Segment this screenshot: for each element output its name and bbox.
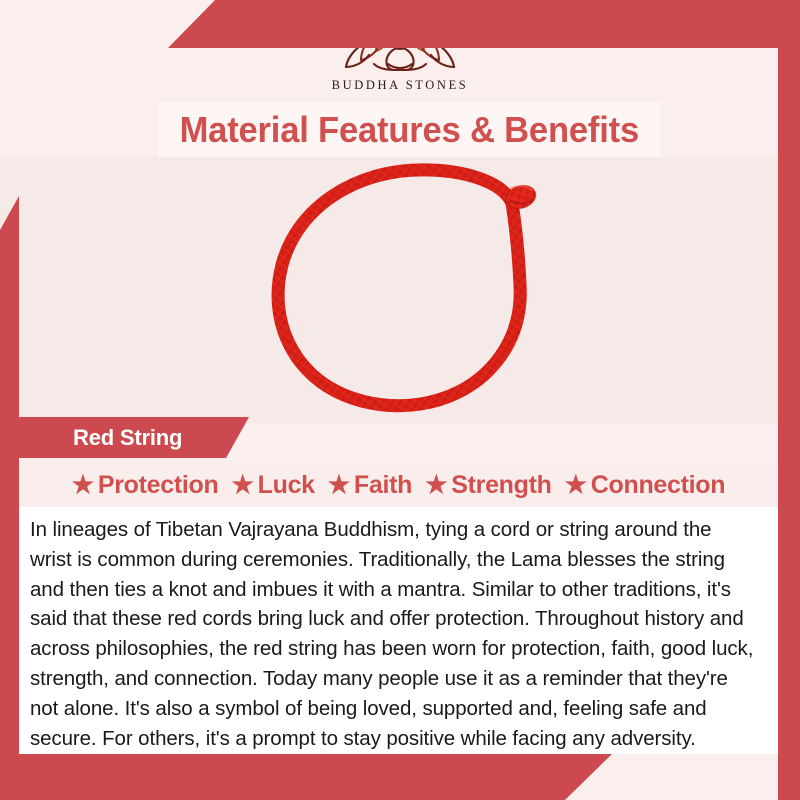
feature-item-luck: ★ Luck [232, 471, 315, 500]
feature-label: Strength [451, 471, 551, 500]
description-block: In lineages of Tibetan Vajrayana Buddhis… [19, 507, 778, 754]
feature-item-connection: ★ Connection [565, 471, 726, 500]
red-string-bracelet-image [240, 157, 570, 423]
bracelet-cord-loop [278, 170, 520, 406]
description-text: In lineages of Tibetan Vajrayana Buddhis… [30, 515, 756, 753]
decor-right-border [778, 0, 800, 800]
decor-left-border [0, 196, 19, 800]
feature-label: Connection [591, 471, 726, 500]
star-icon: ★ [565, 473, 587, 498]
brand-name: BUDDHA STONES [332, 78, 469, 93]
star-icon: ★ [72, 473, 94, 498]
features-list: ★ Protection ★ Luck ★ Faith ★ Strength ★… [19, 463, 778, 507]
material-banner-row: Red String [0, 417, 800, 463]
feature-label: Protection [98, 471, 219, 500]
feature-label: Faith [354, 471, 412, 500]
material-banner: Red String [19, 417, 249, 458]
feature-item-faith: ★ Faith [328, 471, 412, 500]
star-icon: ★ [328, 473, 350, 498]
star-icon: ★ [232, 473, 254, 498]
decor-bottom-band [0, 754, 800, 800]
title-banner: Material Features & Benefits [158, 102, 660, 157]
material-banner-label: Red String [73, 425, 182, 451]
feature-label: Luck [258, 471, 315, 500]
page-title: Material Features & Benefits [179, 109, 638, 151]
feature-item-strength: ★ Strength [425, 471, 552, 500]
star-icon: ★ [425, 473, 447, 498]
product-image-area [0, 157, 800, 423]
feature-item-protection: ★ Protection [72, 471, 219, 500]
